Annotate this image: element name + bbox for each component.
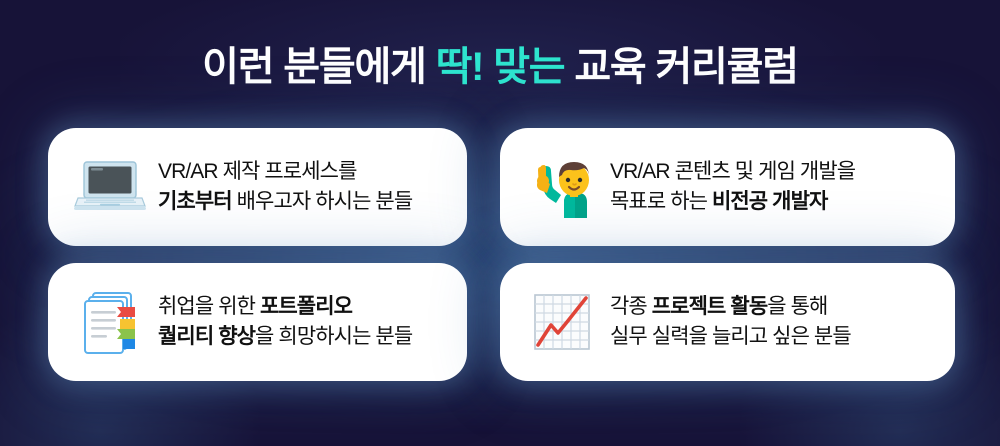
line2-pre: 목표로 하는 [610, 190, 712, 213]
page-title: 이런 분들에게 딱! 맞는 교육 커리큘럼 [0, 45, 1000, 89]
benefit-card[interactable]: 취업을 위한 포트폴리오 퀄리티 향상을 희망하시는 분들 [48, 263, 467, 381]
benefit-card-line-2: 목표로 하는 비전공 개발자 [610, 187, 855, 217]
benefit-card-line-1: 취업을 위한 포트폴리오 [158, 292, 412, 322]
benefit-card-text: VR/AR 제작 프로세스를 기초부터 배우고자 하시는 분들 [158, 157, 412, 217]
chart-increasing-icon [516, 291, 608, 353]
document-bookmarks-icon [64, 289, 156, 355]
title-part-1: 이런 분들에게 [202, 45, 435, 89]
line1-pre: VR/AR 콘텐츠 및 게임 개발을 [610, 160, 855, 183]
benefit-card[interactable]: VR/AR 제작 프로세스를 기초부터 배우고자 하시는 분들 [48, 128, 467, 246]
line2-post: 을 희망하시는 분들 [255, 325, 412, 348]
line2-post: 배우고자 하시는 분들 [232, 190, 413, 213]
line1-bold: 포트폴리오 [260, 295, 352, 318]
benefit-card-grid: VR/AR 제작 프로세스를 기초부터 배우고자 하시는 분들 [48, 128, 955, 381]
man-raising-hand-icon [516, 156, 608, 218]
line1-pre: VR/AR 제작 프로세스를 [158, 160, 357, 183]
title-highlight: 딱! 맞는 [436, 45, 565, 89]
promo-banner: 이런 분들에게 딱! 맞는 교육 커리큘럼 VR/AR 제작 프로세스를 기초 [0, 0, 1000, 446]
line2-bold: 비전공 개발자 [712, 190, 827, 213]
benefit-card-text: 취업을 위한 포트폴리오 퀄리티 향상을 희망하시는 분들 [158, 292, 412, 352]
laptop-icon [64, 159, 156, 215]
benefit-card-line-2: 실무 실력을 늘리고 싶은 분들 [610, 322, 851, 352]
line2-pre: 실무 실력을 늘리고 싶은 분들 [610, 325, 851, 348]
title-part-2: 교육 커리큘럼 [564, 45, 797, 89]
line2-bold: 기초부터 [158, 190, 232, 213]
line1-pre: 각종 [610, 295, 652, 318]
benefit-card-text: 각종 프로젝트 활동을 통해 실무 실력을 늘리고 싶은 분들 [610, 292, 851, 352]
benefit-card[interactable]: 각종 프로젝트 활동을 통해 실무 실력을 늘리고 싶은 분들 [500, 263, 955, 381]
benefit-card-line-1: VR/AR 제작 프로세스를 [158, 157, 412, 187]
benefit-card-line-2: 기초부터 배우고자 하시는 분들 [158, 187, 412, 217]
line1-post: 을 통해 [767, 295, 827, 318]
line2-bold: 퀄리티 향상 [158, 325, 255, 348]
line1-pre: 취업을 위한 [158, 295, 260, 318]
benefit-card-line-2: 퀄리티 향상을 희망하시는 분들 [158, 322, 412, 352]
line1-bold: 프로젝트 활동 [652, 295, 767, 318]
benefit-card-text: VR/AR 콘텐츠 및 게임 개발을 목표로 하는 비전공 개발자 [610, 157, 855, 217]
benefit-card[interactable]: VR/AR 콘텐츠 및 게임 개발을 목표로 하는 비전공 개발자 [500, 128, 955, 246]
benefit-card-line-1: VR/AR 콘텐츠 및 게임 개발을 [610, 157, 855, 187]
benefit-card-line-1: 각종 프로젝트 활동을 통해 [610, 292, 851, 322]
